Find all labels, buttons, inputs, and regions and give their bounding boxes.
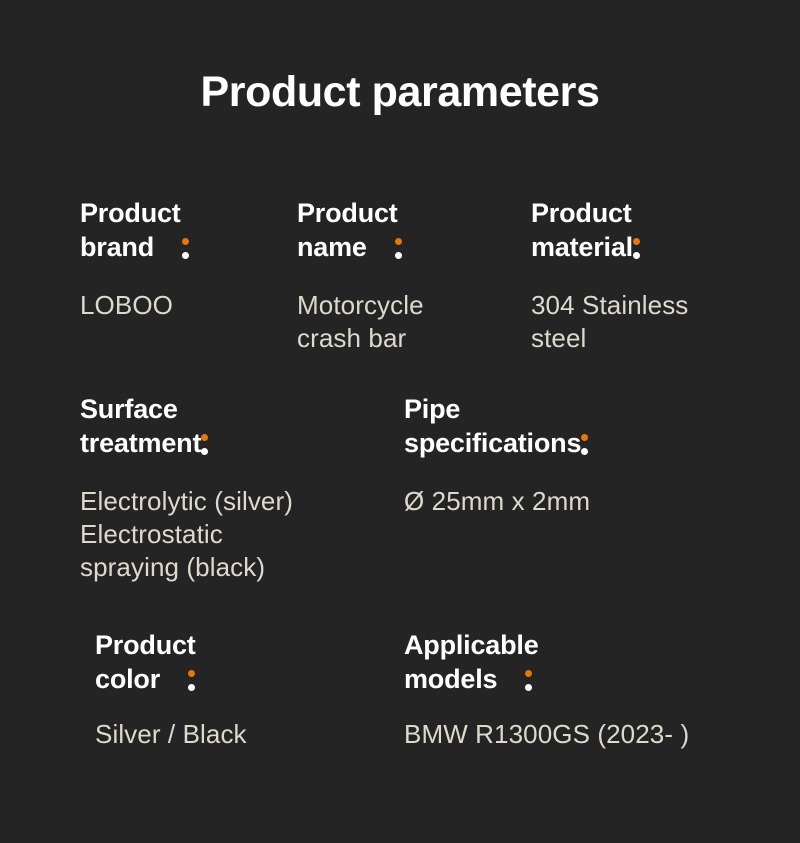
spec-label-text: treatment <box>80 426 201 460</box>
spec-label-line: Product <box>95 628 385 662</box>
spec-label-line-with-colon: treatment <box>80 426 380 460</box>
spec-row: Product brand LOBOO Product name Motorcy… <box>0 196 800 381</box>
spec-label-text: brand <box>80 230 154 264</box>
spec-item-product-material: Product material 304 Stainless steel <box>531 196 771 355</box>
colon-separator-icon <box>201 426 211 460</box>
spec-value: LOBOO <box>80 289 290 322</box>
spec-label: Product name <box>297 196 522 264</box>
colon-separator-icon <box>182 230 192 264</box>
spec-value: Silver / Black <box>95 718 385 751</box>
spec-value: Motorcycle crash bar <box>297 289 522 355</box>
spec-label-line-with-colon: specifications <box>404 426 734 460</box>
colon-separator-icon <box>633 230 643 264</box>
colon-separator-icon <box>525 662 535 696</box>
spec-label-text: models <box>404 662 497 696</box>
spec-label-line-with-colon: material <box>531 230 771 264</box>
spec-label-line-with-colon: name <box>297 230 522 264</box>
spec-value: Ø 25mm x 2mm <box>404 485 734 518</box>
spec-label-line: Product <box>80 196 290 230</box>
spec-label: Applicable models <box>404 628 754 696</box>
spec-label: Product material <box>531 196 771 264</box>
spec-item-product-color: Product color Silver / Black <box>95 628 385 751</box>
colon-separator-icon <box>188 662 198 696</box>
page-title: Product parameters <box>0 68 800 117</box>
spec-label-line: Applicable <box>404 628 754 662</box>
spec-label-line: Surface <box>80 392 380 426</box>
spec-item-pipe-specifications: Pipe specifications Ø 25mm x 2mm <box>404 392 734 518</box>
spec-label-text: specifications <box>404 426 581 460</box>
spec-label-line: Pipe <box>404 392 734 426</box>
spec-label: Pipe specifications <box>404 392 734 460</box>
spec-item-applicable-models: Applicable models BMW R1300GS (2023- ) <box>404 628 754 751</box>
spec-item-product-brand: Product brand LOBOO <box>80 196 290 322</box>
spec-item-product-name: Product name Motorcycle crash bar <box>297 196 522 355</box>
spec-value: BMW R1300GS (2023- ) <box>404 718 754 751</box>
spec-label: Product color <box>95 628 385 696</box>
colon-separator-icon <box>395 230 405 264</box>
spec-label-text: name <box>297 230 367 264</box>
spec-item-surface-treatment: Surface treatment Electrolytic (silver) … <box>80 392 380 584</box>
spec-label-line-with-colon: brand <box>80 230 290 264</box>
spec-label-line-with-colon: models <box>404 662 754 696</box>
colon-separator-icon <box>581 426 591 460</box>
spec-label: Surface treatment <box>80 392 380 460</box>
spec-label-line: Product <box>297 196 522 230</box>
spec-value: Electrolytic (silver) Electrostatic spra… <box>80 485 380 584</box>
spec-value: 304 Stainless steel <box>531 289 771 355</box>
spec-label-text: color <box>95 662 160 696</box>
spec-label-text: material <box>531 230 633 264</box>
spec-label-line: Product <box>531 196 771 230</box>
spec-label: Product brand <box>80 196 290 264</box>
spec-table: Product brand LOBOO Product name Motorcy… <box>0 196 800 381</box>
spec-label-line-with-colon: color <box>95 662 385 696</box>
